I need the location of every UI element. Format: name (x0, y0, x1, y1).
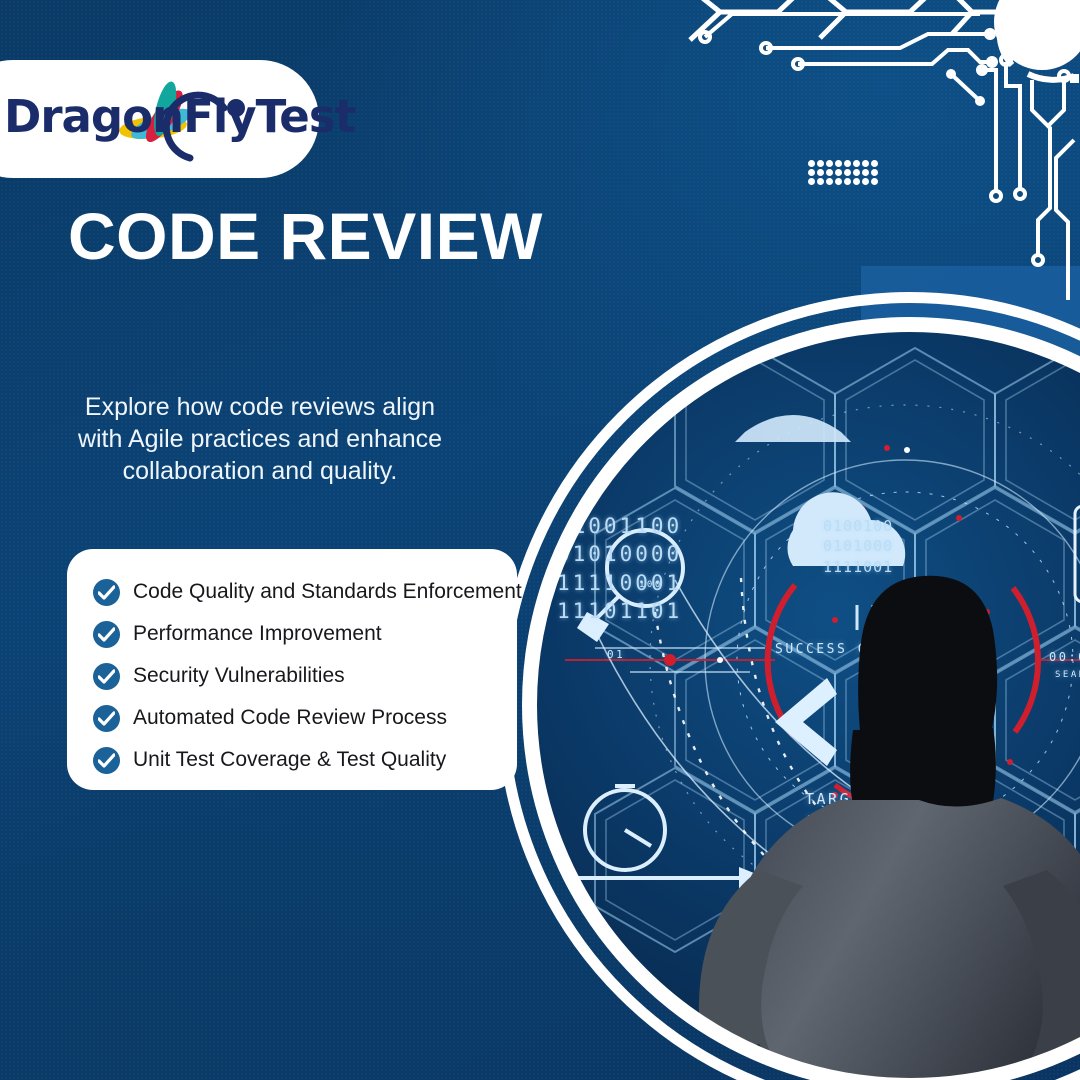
list-item[interactable]: Unit Test Coverage & Test Quality (93, 739, 517, 781)
list-item-label: Automated Code Review Process (133, 706, 447, 730)
list-item-label: Code Quality and Standards Enforcement (133, 580, 522, 604)
check-circle-icon (93, 705, 120, 732)
check-circle-icon (93, 747, 120, 774)
page-title: CODE REVIEW (68, 198, 543, 274)
list-item-label: Unit Test Coverage & Test Quality (133, 748, 446, 772)
features-card: Code Quality and Standards Enforcement P… (67, 549, 517, 790)
brand-logo-text: DragonFlyTest (4, 90, 355, 143)
brand-logo[interactable]: DragonFlyTest (0, 60, 319, 178)
dot-matrix-decor (808, 160, 880, 187)
subtitle-text: Explore how code reviews align with Agil… (62, 392, 458, 487)
list-item-label: Security Vulnerabilities (133, 664, 345, 688)
hero-image: 0100100 0101000 1111001 SUCCESS COMPLETE… (535, 330, 1080, 1080)
list-item[interactable]: Performance Improvement (93, 613, 517, 655)
list-item-label: Performance Improvement (133, 622, 382, 646)
circuit-board-icon (660, 0, 1080, 300)
list-item[interactable]: Code Quality and Standards Enforcement (93, 571, 517, 613)
list-item[interactable]: Automated Code Review Process (93, 697, 517, 739)
check-circle-icon (93, 621, 120, 648)
check-circle-icon (93, 579, 120, 606)
check-circle-icon (93, 663, 120, 690)
poster-canvas: 0100100 0101000 1111001 SUCCESS COMPLETE… (0, 0, 1080, 1080)
list-item[interactable]: Security Vulnerabilities (93, 655, 517, 697)
